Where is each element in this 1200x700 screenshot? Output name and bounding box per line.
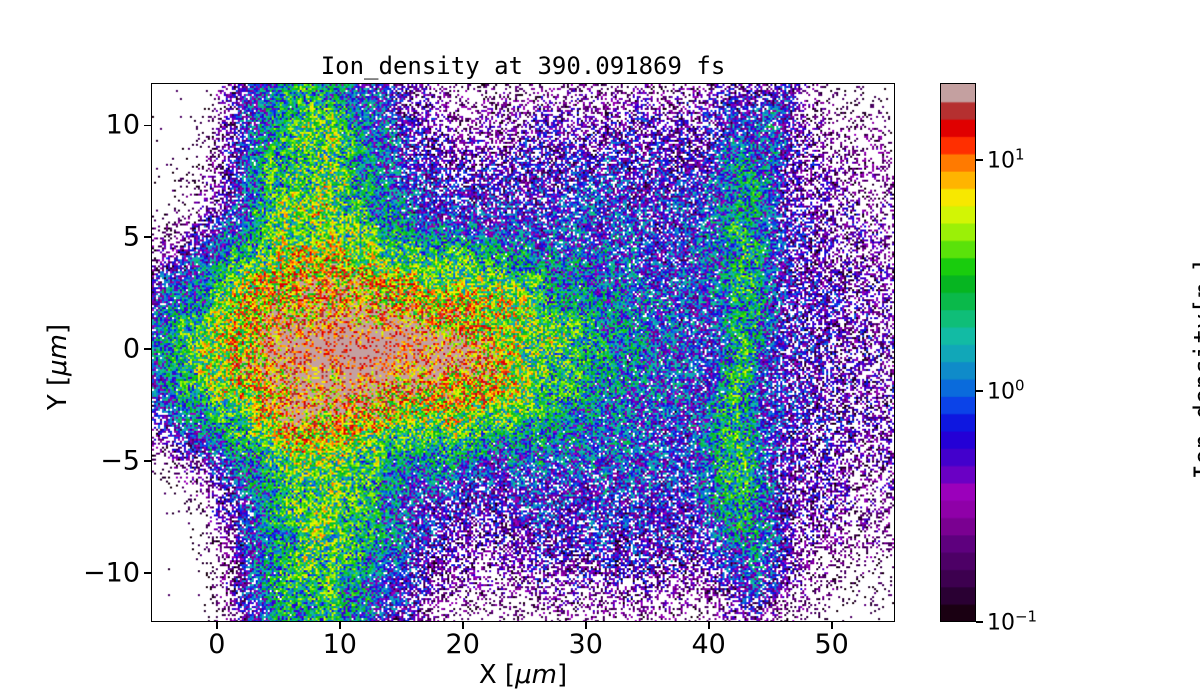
x-tick-label: 20 xyxy=(446,631,480,658)
y-tick-mark xyxy=(144,125,151,127)
x-axis-label-close: ] xyxy=(557,660,567,690)
x-tick-mark xyxy=(216,622,218,629)
x-tick-mark xyxy=(462,622,464,629)
colorbar-tick-mark xyxy=(976,621,983,623)
y-axis-label-text: Y [ xyxy=(43,376,73,410)
colorbar-label-prefix: Ion_density[ xyxy=(1189,299,1200,480)
colorbar-tick-label: 100 xyxy=(987,378,1025,403)
x-tick-label: 10 xyxy=(323,631,357,658)
colorbar-label: Ion_density[nc] xyxy=(1189,139,1200,599)
colorbar-tick-mark xyxy=(976,390,983,392)
page-title: Ion_density at 390.091869 fs xyxy=(0,52,1046,80)
colorbar-tick-mark xyxy=(976,159,983,161)
y-tick-mark xyxy=(144,572,151,574)
y-tick-mark xyxy=(144,348,151,350)
x-tick-mark xyxy=(831,622,833,629)
colorbar xyxy=(940,83,976,622)
plot-axes-frame xyxy=(151,83,895,622)
x-tick-label: 40 xyxy=(692,631,726,658)
y-tick-label: 5 xyxy=(20,224,140,251)
x-tick-mark xyxy=(585,622,587,629)
colorbar-tick-label: 10−1 xyxy=(987,609,1037,634)
x-tick-mark xyxy=(339,622,341,629)
x-tick-label: 30 xyxy=(569,631,603,658)
y-tick-mark xyxy=(144,236,151,238)
ion-density-heatmap xyxy=(152,84,894,621)
figure-root: Ion_density at 390.091869 fs 01020304050… xyxy=(0,0,1200,700)
y-tick-label: 0 xyxy=(20,336,140,363)
colorbar-label-symbol: n xyxy=(1189,283,1200,299)
y-axis-label-unit: μm xyxy=(43,334,73,376)
colorbar-label-suffix: ] xyxy=(1189,258,1200,273)
x-axis-label-text: X [ xyxy=(479,660,515,690)
y-axis-label: Y [μm] xyxy=(43,257,73,477)
y-tick-label: 10 xyxy=(20,112,140,139)
colorbar-tick-label: 101 xyxy=(987,147,1025,172)
y-tick-label: −5 xyxy=(20,447,140,474)
x-tick-label: 50 xyxy=(814,631,848,658)
y-axis-label-close: ] xyxy=(43,324,73,334)
x-tick-mark xyxy=(708,622,710,629)
x-tick-label: 0 xyxy=(208,631,225,658)
colorbar-gradient xyxy=(941,84,975,621)
x-axis-label: X [μm] xyxy=(151,660,895,690)
y-tick-mark xyxy=(144,460,151,462)
y-tick-label: −10 xyxy=(20,559,140,586)
x-axis-label-unit: μm xyxy=(515,660,557,690)
